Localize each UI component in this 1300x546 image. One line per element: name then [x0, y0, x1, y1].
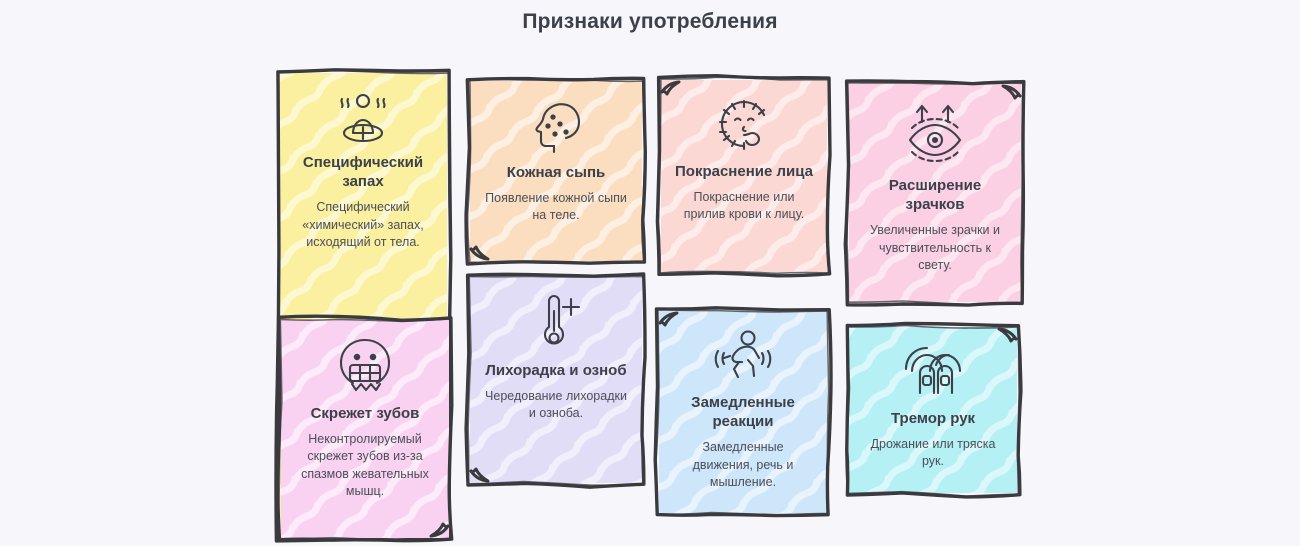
head-rash-icon — [523, 95, 589, 155]
card-description: Чередование лихорадки и озноба. — [482, 388, 630, 423]
steaming-person-icon — [328, 87, 398, 145]
thermometer-plus-icon — [527, 291, 585, 353]
eye-arrows-icon — [904, 98, 966, 168]
symptom-card-teeth-grinding[interactable]: Скрежет зубовНеконтролируемый скрежет зу… — [281, 320, 449, 538]
symptom-card-skin-rash[interactable]: Кожная сыпьПоявление кожной сыпи на теле… — [470, 81, 642, 261]
card-description: Неконтролируемый скрежет зубов из-за спа… — [293, 431, 437, 500]
card-title: Тремор рук — [891, 409, 975, 428]
symptom-card-facial-flushing[interactable]: Покраснение лицаПокраснение или прилив к… — [661, 80, 827, 272]
blushing-face-icon — [710, 94, 778, 154]
card-title: Специфический запах — [291, 153, 435, 191]
card-description: Увеличенные зрачки и чувствительность к … — [861, 222, 1009, 274]
card-title: Покраснение лица — [675, 162, 813, 181]
card-description: Замедленные движения, речь и мышление. — [671, 439, 815, 491]
signs-card-board: Специфический запахСпецифический «химиче… — [0, 0, 1300, 546]
card-description: Появление кожной сыпи на теле. — [482, 190, 630, 225]
grinding-teeth-face-icon — [334, 334, 396, 396]
card-title: Скрежет зубов — [311, 404, 420, 423]
card-title: Лихорадка и озноб — [485, 361, 626, 380]
card-description: Дрожание или тряска рук. — [861, 436, 1005, 471]
card-description: Специфический «химический» запах, исходя… — [291, 199, 435, 251]
shaking-hands-icon — [898, 341, 968, 401]
symptom-card-dilated-pupils[interactable]: Расширение зрачковУвеличенные зрачки и ч… — [849, 84, 1021, 302]
running-person-icon — [708, 325, 778, 385]
symptom-card-slowed-reactions[interactable]: Замедленные реакцииЗамедленные движения,… — [659, 311, 827, 513]
symptom-card-fever-chills[interactable]: Лихорадка и ознобЧередование лихорадки и… — [470, 277, 642, 483]
card-title: Расширение зрачков — [861, 176, 1009, 214]
card-title: Кожная сыпь — [507, 163, 606, 182]
symptom-card-hand-tremor[interactable]: Тремор рукДрожание или тряска рук. — [849, 327, 1017, 493]
card-description: Покраснение или прилив крови к лицу. — [673, 189, 815, 224]
card-title: Замедленные реакции — [671, 393, 815, 431]
